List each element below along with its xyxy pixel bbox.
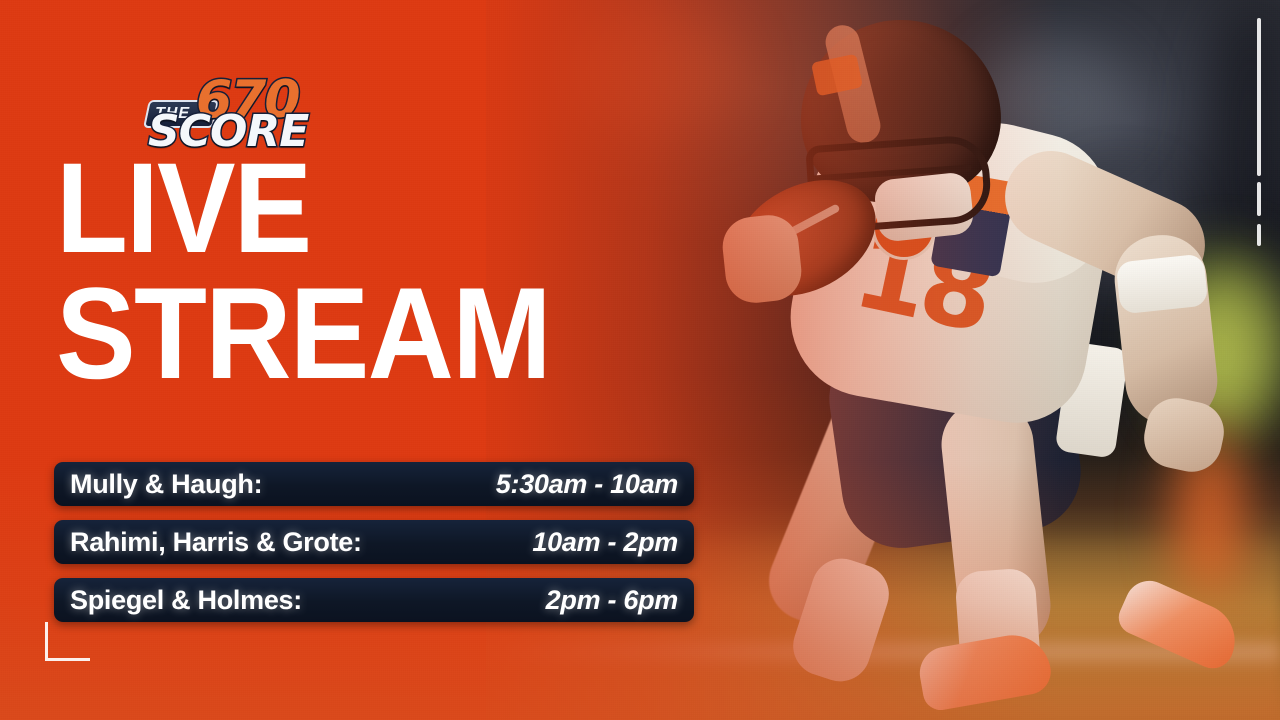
show-time: 5:30am - 10am — [496, 469, 678, 500]
show-time: 2pm - 6pm — [546, 585, 678, 616]
list-item[interactable]: Mully & Haugh: 5:30am - 10am — [54, 462, 694, 506]
show-schedule-list: Mully & Haugh: 5:30am - 10am Rahimi, Har… — [54, 462, 694, 636]
list-item[interactable]: Spiegel & Holmes: 2pm - 6pm — [54, 578, 694, 622]
show-name: Rahimi, Harris & Grote: — [70, 527, 362, 558]
promo-graphic: 18 18 GSH — [0, 0, 1280, 720]
vertical-rule-segment-1 — [1257, 18, 1261, 176]
headline-line-2: STREAM — [56, 274, 700, 394]
page-title: LIVE STREAM — [56, 150, 756, 393]
corner-bracket — [45, 622, 90, 661]
list-item[interactable]: Rahimi, Harris & Grote: 10am - 2pm — [54, 520, 694, 564]
player-cleat-back — [1113, 573, 1246, 675]
vertical-rule-segment-2 — [1257, 182, 1261, 216]
show-name: Spiegel & Holmes: — [70, 585, 302, 616]
vertical-rule-segment-3 — [1257, 224, 1261, 246]
headline-line-1: LIVE — [56, 150, 700, 268]
station-logo[interactable]: THE 670 SCORE — [146, 72, 316, 142]
player-wristband — [1116, 254, 1209, 315]
show-name: Mully & Haugh: — [70, 469, 262, 500]
show-time: 10am - 2pm — [532, 527, 678, 558]
